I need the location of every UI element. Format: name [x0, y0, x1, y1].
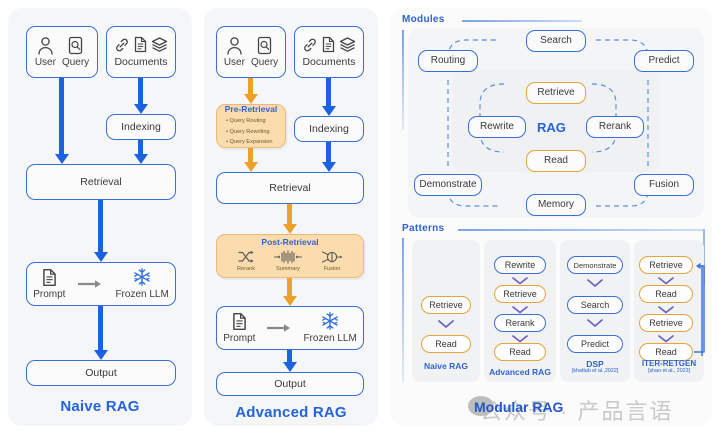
prompt-cell: Prompt: [223, 312, 255, 345]
pattern-node-read[interactable]: Read: [421, 335, 471, 353]
section-left-rule-modules: [402, 30, 404, 130]
section-rule-modules: [462, 20, 582, 22]
arrowhead-prompt-to-output: [283, 362, 297, 372]
document-icon: [321, 36, 336, 53]
arrowhead-pre-retrieval-to-retrieval: [244, 162, 258, 172]
user-icon-cell: User: [35, 36, 56, 69]
pattern-node-label: Read: [435, 339, 457, 349]
section-left-rule-patterns: [402, 238, 404, 382]
shuffle-icon: [237, 250, 255, 264]
list-item: • Query Expansion: [226, 137, 272, 147]
module-node-rewrite[interactable]: Rewrite: [468, 116, 526, 138]
node-user-label: User: [35, 57, 56, 69]
query-icon: [67, 36, 84, 55]
module-node-search[interactable]: Search: [526, 30, 586, 52]
link-icon: [302, 37, 318, 53]
pattern-node-label: Read: [509, 347, 531, 357]
arrowhead-indexing-to-retrieval: [134, 154, 148, 164]
document-icon: [41, 268, 58, 287]
module-node-rerank-label: Rerank: [599, 121, 631, 133]
list-item: • Query Routing: [226, 116, 272, 126]
arrow-indexing-to-retrieval: [326, 142, 331, 164]
arrow-documents-to-indexing: [138, 78, 143, 106]
node-output-label: Output: [274, 378, 306, 390]
snowflake-icon: [132, 267, 152, 287]
module-node-memory-label: Memory: [538, 199, 574, 211]
pattern-name-iter-retgen: ITER-RETGEN: [632, 359, 706, 368]
query-icon-cell: Query: [62, 36, 89, 69]
module-node-routing-label: Routing: [431, 55, 465, 67]
pattern-node-label: Retrieve: [503, 289, 537, 299]
node-indexing: Indexing: [106, 114, 176, 140]
pattern-node-label: Read: [655, 347, 677, 357]
caption-modular-rag: Modular RAG: [474, 399, 563, 415]
user-icon: [226, 36, 243, 55]
node-retrieval: Retrieval: [26, 164, 176, 200]
frozen-llm-cell: Frozen LLM: [303, 311, 356, 345]
node-output: Output: [26, 360, 176, 386]
snowflake-icon: [320, 311, 340, 331]
arrow-documents-to-indexing: [326, 78, 331, 108]
module-node-fusion-label: Fusion: [649, 179, 679, 191]
user-icon-cell: User: [224, 36, 245, 69]
arrowhead-documents-to-indexing: [134, 104, 148, 114]
chevron-down-icon: [437, 318, 455, 330]
pattern-node-search[interactable]: Search: [567, 296, 623, 314]
module-node-search-label: Search: [540, 35, 572, 47]
module-node-demonstrate[interactable]: Demonstrate: [414, 174, 482, 196]
document-icon: [231, 312, 248, 331]
node-indexing-label: Indexing: [121, 121, 161, 133]
pattern-name-naive-rag: Naive RAG: [412, 361, 480, 371]
node-output-label: Output: [85, 367, 117, 379]
post-retrieval-title: Post-Retrieval: [261, 238, 318, 248]
node-pre-retrieval: Pre-Retrieval • Query Routing • Query Re…: [216, 104, 286, 148]
right-arrow-icon: [77, 279, 103, 289]
section-title-patterns: Patterns: [402, 223, 444, 234]
pattern-loop-arrow: [690, 256, 712, 356]
waveform-compress-icon: [273, 250, 303, 264]
prompt-cell: Prompt: [33, 268, 65, 301]
pattern-node-label: Search: [581, 300, 610, 310]
node-indexing-label: Indexing: [309, 123, 349, 135]
prompt-label: Prompt: [33, 289, 65, 301]
pattern-node-retrieve-2[interactable]: Retrieve: [639, 314, 693, 332]
node-retrieval-label: Retrieval: [269, 182, 310, 194]
query-icon-cell: Query: [251, 36, 278, 69]
module-node-read-label: Read: [544, 155, 568, 167]
pattern-node-retrieve-1[interactable]: Retrieve: [639, 256, 693, 274]
document-icon: [133, 36, 148, 53]
query-icon: [256, 36, 273, 55]
pattern-node-retrieve[interactable]: Retrieve: [494, 285, 546, 303]
pattern-node-label: Demonstrate: [574, 261, 617, 270]
arrowhead-post-retrieval-to-prompt: [283, 296, 297, 306]
pre-retrieval-title: Pre-Retrieval: [221, 105, 281, 115]
node-user-query: User Query: [216, 26, 286, 78]
pattern-node-rerank[interactable]: Rerank: [494, 314, 546, 332]
arrowhead-user-to-retrieval: [55, 154, 69, 164]
frozen-llm-label: Frozen LLM: [303, 333, 356, 345]
node-query-label: Query: [251, 57, 278, 69]
pattern-node-rewrite[interactable]: Rewrite: [494, 256, 546, 274]
panel-naive-rag: User Query: [8, 8, 192, 426]
pattern-citation-iter-retgen: [shao et al., 2023]: [632, 368, 706, 374]
arrowhead-user-to-pre-retrieval: [244, 94, 258, 104]
node-prompt-frozen-llm: Prompt Frozen LLM: [216, 306, 364, 350]
module-node-read[interactable]: Read: [526, 150, 586, 172]
pattern-node-predict[interactable]: Predict: [567, 335, 623, 353]
module-node-retrieve-label: Retrieve: [537, 87, 574, 99]
node-retrieval-label: Retrieval: [80, 176, 121, 188]
right-arrow-icon: [266, 323, 292, 333]
module-node-demonstrate-label: Demonstrate: [419, 179, 476, 191]
node-indexing: Indexing: [294, 116, 364, 142]
panel-modular-rag: Modules: [390, 8, 712, 426]
arrowhead-documents-to-indexing: [322, 106, 336, 116]
arrow-retrieval-to-post-retrieval: [287, 204, 292, 226]
prompt-label: Prompt: [223, 333, 255, 345]
layers-icon: [339, 36, 356, 53]
arrowhead-indexing-to-retrieval: [322, 162, 336, 172]
summary-cell: Summary: [273, 250, 303, 272]
pattern-node-demonstrate[interactable]: Demonstrate: [567, 256, 623, 274]
arrow-user-to-retrieval: [59, 78, 64, 156]
node-output: Output: [216, 372, 364, 396]
pattern-node-read-1[interactable]: Read: [639, 285, 693, 303]
pattern-node-label: Rerank: [505, 318, 534, 328]
module-node-predict[interactable]: Predict: [634, 50, 694, 72]
arrow-retrieval-to-prompt: [98, 200, 103, 254]
frozen-llm-cell: Frozen LLM: [115, 267, 168, 301]
fusion-label: Fusion: [324, 266, 341, 272]
arrow-post-retrieval-to-prompt: [287, 278, 292, 298]
pattern-node-label: Read: [655, 289, 677, 299]
chevron-down-icon: [586, 278, 604, 289]
node-query-label: Query: [62, 57, 89, 69]
arrowhead-prompt-to-output: [94, 350, 108, 360]
node-documents-label: Documents: [302, 56, 355, 68]
module-node-rewrite-label: Rewrite: [480, 121, 514, 133]
node-post-retrieval: Post-Retrieval Rerank Summary: [216, 234, 364, 278]
fusion-cell: Fusion: [321, 250, 343, 272]
fusion-icon: [321, 250, 343, 264]
arrowhead-retrieval-to-post-retrieval: [283, 224, 297, 234]
module-node-rerank[interactable]: Rerank: [586, 116, 644, 138]
caption-advanced-rag: Advanced RAG: [204, 404, 378, 421]
pattern-node-label: Predict: [581, 339, 609, 349]
user-icon: [37, 36, 54, 55]
pre-retrieval-items: • Query Routing • Query Rewriting • Quer…: [221, 116, 272, 147]
pattern-node-retrieve[interactable]: Retrieve: [421, 296, 471, 314]
frozen-llm-label: Frozen LLM: [115, 289, 168, 301]
pattern-node-read[interactable]: Read: [494, 343, 546, 361]
layers-icon: [151, 36, 168, 53]
node-prompt-frozen-llm: Prompt Frozen LLM: [26, 262, 176, 306]
node-user-label: User: [224, 57, 245, 69]
module-node-predict-label: Predict: [648, 55, 679, 67]
section-rule-patterns: [458, 229, 704, 231]
arrow-prompt-to-output: [98, 306, 103, 352]
rerank-label: Rerank: [237, 266, 255, 272]
pattern-node-label: Retrieve: [649, 318, 683, 328]
module-node-retrieve[interactable]: Retrieve: [526, 82, 586, 104]
panel-advanced-rag: User Query: [204, 8, 378, 426]
link-icon: [114, 37, 130, 53]
summary-label: Summary: [276, 266, 300, 272]
pattern-node-label: Retrieve: [649, 260, 683, 270]
pattern-node-label: Rewrite: [505, 260, 536, 270]
node-documents: Documents: [106, 26, 176, 78]
list-item: • Query Rewriting: [226, 127, 272, 137]
module-node-memory[interactable]: Memory: [526, 194, 586, 216]
arrowhead-retrieval-to-prompt: [94, 252, 108, 262]
rag-center-label: RAG: [537, 120, 566, 135]
diagram-root: User Query: [0, 0, 720, 434]
pattern-name-advanced-rag: Advanced RAG: [484, 367, 556, 377]
node-documents-label: Documents: [114, 56, 167, 68]
chevron-down-icon: [586, 318, 604, 329]
caption-naive-rag: Naive RAG: [8, 398, 192, 415]
section-title-modules: Modules: [402, 14, 445, 25]
pattern-node-label: Retrieve: [429, 300, 463, 310]
rerank-cell: Rerank: [237, 250, 255, 272]
pattern-citation-dsp: [khattab et al.,2022]: [560, 368, 630, 374]
node-user-query: User Query: [26, 26, 98, 78]
module-node-routing[interactable]: Routing: [418, 50, 478, 72]
module-node-fusion[interactable]: Fusion: [634, 174, 694, 196]
node-documents: Documents: [294, 26, 364, 78]
node-retrieval: Retrieval: [216, 172, 364, 204]
